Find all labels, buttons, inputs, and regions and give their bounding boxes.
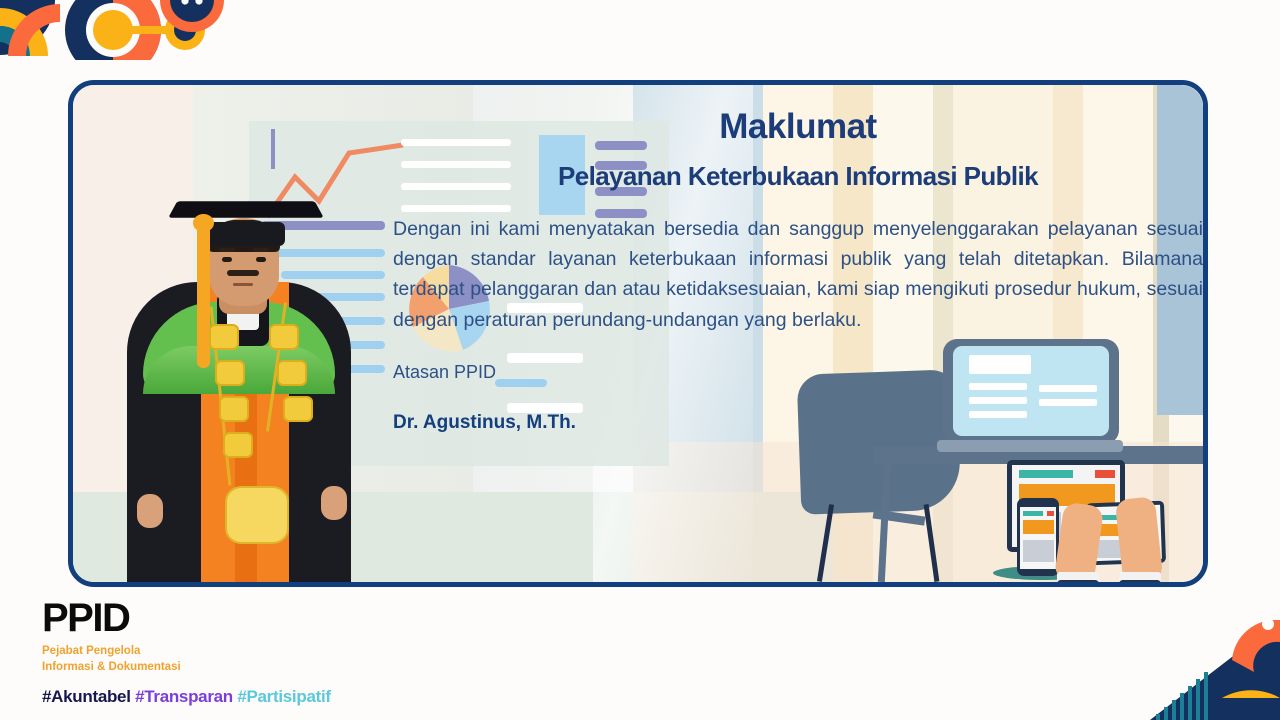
card-text-block: Maklumat Pelayanan Keterbukaan Informasi…	[393, 107, 1203, 434]
ui-bar-teal	[1023, 511, 1043, 516]
medallion	[277, 360, 307, 386]
medallion	[283, 396, 313, 422]
eyebrow	[253, 248, 269, 252]
hashtag-partisipatif: #Partisipatif	[237, 687, 330, 706]
hashtag-transparan: #Transparan	[135, 687, 233, 706]
hand	[137, 494, 163, 528]
medallion	[219, 396, 249, 422]
laptop-base	[937, 440, 1123, 452]
hashtag-row: #Akuntabel #Transparan #Partisipatif	[42, 687, 562, 707]
medallion	[209, 324, 239, 350]
declaration-body: Dengan ini kami menyatakan bersedia dan …	[393, 214, 1203, 335]
eyebrow	[219, 248, 235, 252]
mortarboard-top	[168, 201, 324, 217]
sleeve-left	[1057, 580, 1099, 582]
sleeve-right	[1119, 580, 1161, 582]
large-medallion	[225, 486, 289, 544]
ui-bar-red	[1047, 511, 1054, 516]
tassel	[197, 218, 210, 368]
medallion	[223, 432, 253, 458]
desk-leg	[878, 460, 891, 582]
mortarboard-band	[205, 222, 285, 246]
hashtag-akuntabel: #Akuntabel	[42, 687, 131, 706]
smiley-face-icon	[155, 0, 229, 38]
eye	[256, 257, 266, 262]
abstract-wedge-icon	[1140, 620, 1280, 720]
ui-bar-teal	[1019, 470, 1073, 478]
mouth	[233, 283, 253, 286]
ppid-logo-text: PPID	[42, 598, 562, 638]
ppid-subtitle-line2: Informasi & Dokumentasi	[42, 660, 562, 676]
decoration-smiley	[155, 0, 229, 38]
page-title: Maklumat	[393, 107, 1203, 147]
hand	[321, 486, 347, 520]
medallion	[269, 324, 299, 350]
decoration-bottom-right	[1140, 620, 1280, 720]
ppid-subtitle-line1: Pejabat Pengelola	[42, 644, 562, 660]
page-subtitle: Pelayanan Keterbukaan Informasi Publik	[393, 161, 1203, 192]
ui-block-gray	[1023, 540, 1054, 562]
signature-name: Dr. Agustinus, M.Th.	[393, 412, 1203, 434]
mustache	[227, 270, 259, 276]
portrait-photo	[109, 112, 369, 582]
medallion	[215, 360, 245, 386]
ppid-logo-subtitle: Pejabat Pengelola Informasi & Dokumentas…	[42, 644, 562, 675]
maklumat-card: Maklumat Pelayanan Keterbukaan Informasi…	[68, 80, 1208, 587]
ui-block-orange	[1023, 520, 1054, 534]
eye	[222, 257, 232, 262]
ui-bar-red	[1095, 470, 1115, 478]
chair-leg	[817, 504, 834, 582]
footer-branding: PPID Pejabat Pengelola Informasi & Dokum…	[42, 598, 562, 707]
signature-role: Atasan PPID	[393, 362, 1203, 383]
